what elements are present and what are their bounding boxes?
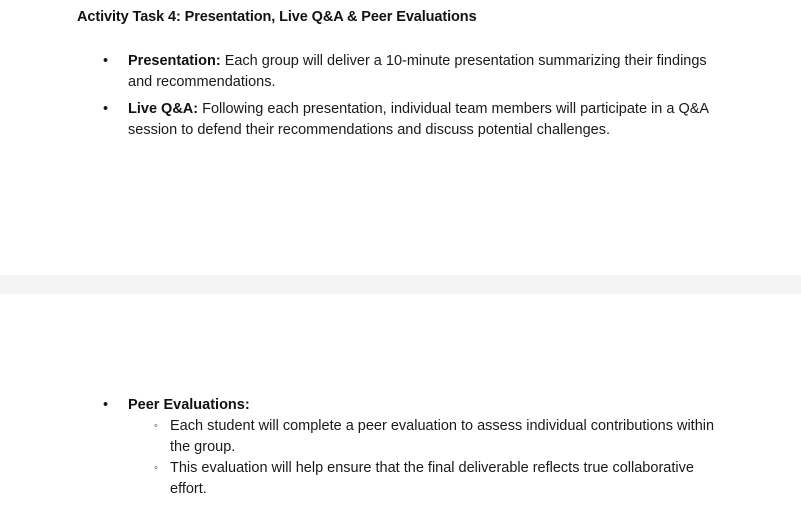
sub-list-item-text: This evaluation will help ensure that th… [170, 460, 694, 497]
document-page-two: • Peer Evaluations: ◦ Each student will … [0, 294, 801, 527]
list-item-lead: Presentation: [128, 53, 221, 69]
list-item: • Live Q&A: Following each presentation,… [95, 99, 720, 140]
sub-bullet-circle-icon: ◦ [154, 458, 158, 479]
presentation-bullet-list: • Presentation: Each group will deliver … [95, 51, 720, 92]
bullet-point-icon: • [103, 395, 108, 416]
sub-bullet-circle-icon: ◦ [154, 416, 158, 437]
document-page-one: Activity Task 4: Presentation, Live Q&A … [0, 0, 801, 275]
peer-evaluations-bullet-list: • Peer Evaluations: ◦ Each student will … [95, 395, 720, 500]
bullet-point-icon: • [103, 51, 108, 72]
page-title: Activity Task 4: Presentation, Live Q&A … [77, 9, 477, 25]
list-item: • Peer Evaluations: [95, 395, 720, 416]
list-item-lead: Peer Evaluations: [128, 397, 250, 413]
list-item-body: Following each presentation, individual … [128, 101, 708, 138]
list-item: ◦ This evaluation will help ensure that … [146, 458, 720, 500]
page-separator-band [0, 275, 801, 294]
liveqa-bullet-list: • Live Q&A: Following each presentation,… [95, 99, 720, 140]
sub-list-item-text: Each student will complete a peer evalua… [170, 418, 714, 455]
list-item: ◦ Each student will complete a peer eval… [146, 416, 720, 458]
bullet-point-icon: • [103, 99, 108, 120]
list-item: • Presentation: Each group will deliver … [95, 51, 720, 92]
list-item-lead: Live Q&A: [128, 101, 198, 117]
